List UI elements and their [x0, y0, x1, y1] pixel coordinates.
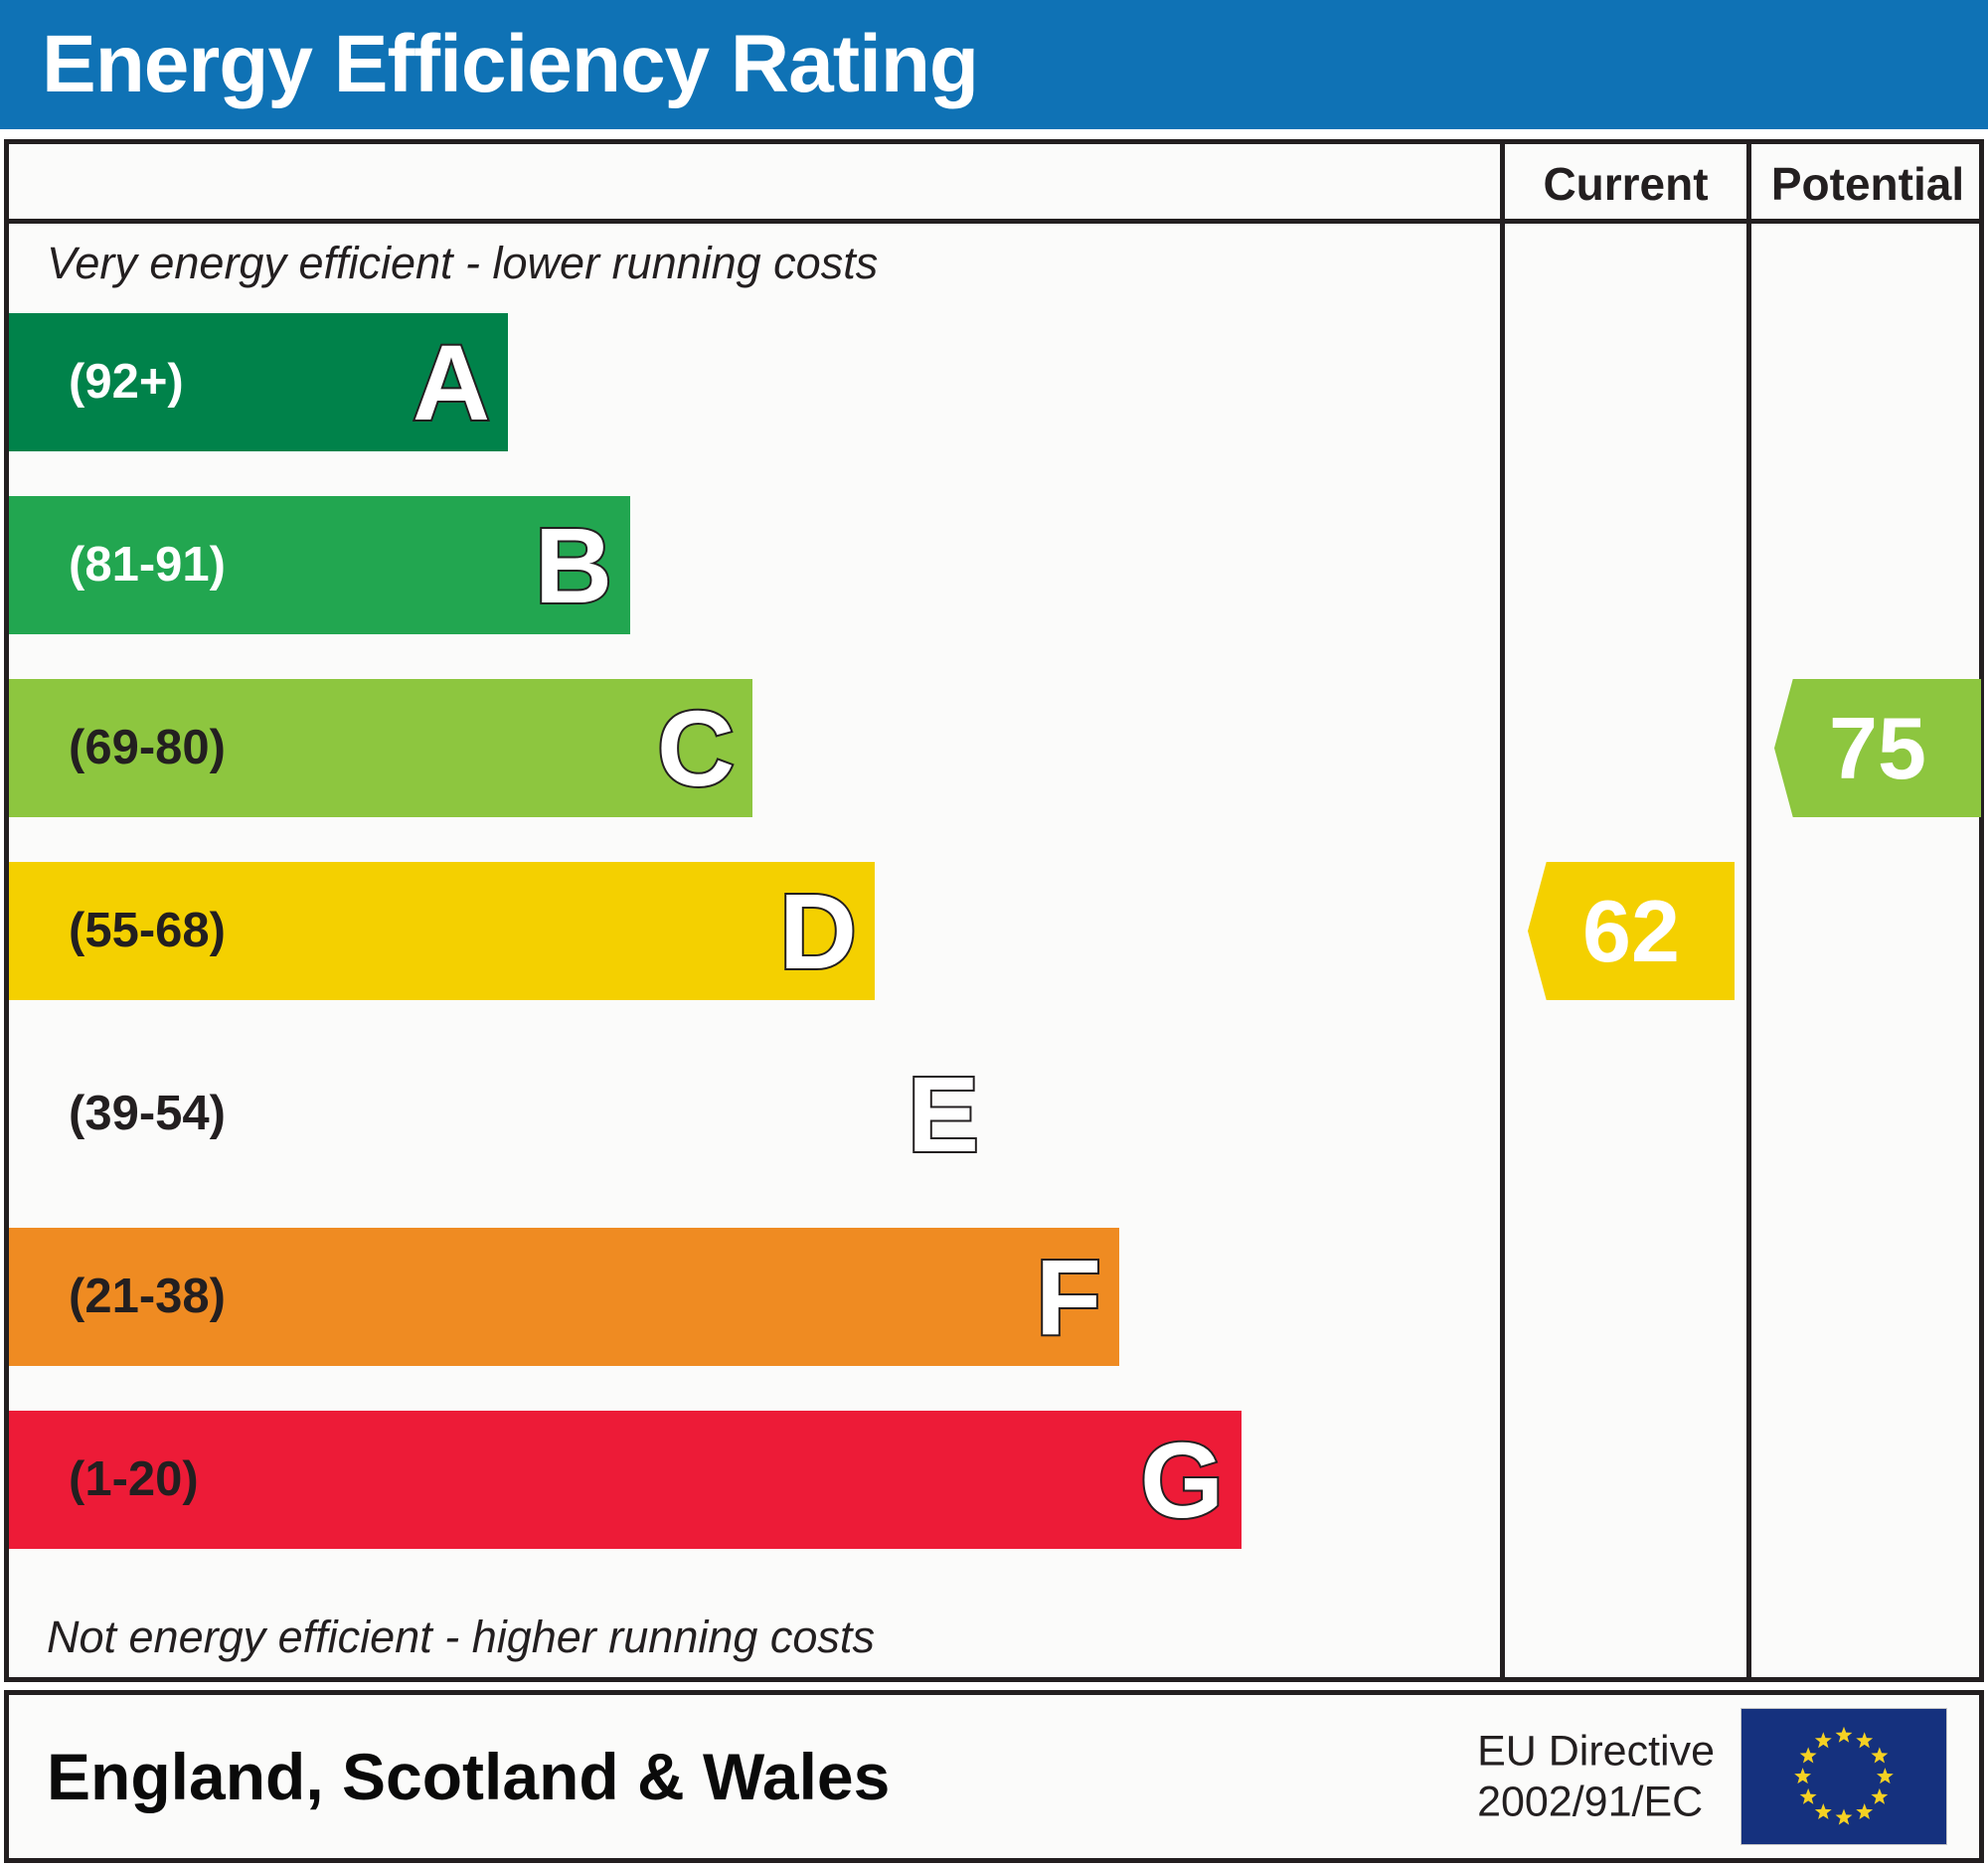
band-letter-b: B — [535, 512, 612, 619]
band-letter-d: D — [779, 878, 857, 985]
band-b: (81-91)B — [9, 496, 630, 634]
band-range-label: (1-20) — [9, 1455, 199, 1504]
band-f: (21-38)F — [9, 1228, 1119, 1366]
footer-directive-label: EU Directive 2002/91/EC — [1477, 1726, 1715, 1826]
current-rating-arrow: 62 — [1528, 862, 1735, 1000]
band-range-label: (81-91) — [9, 541, 226, 590]
band-range-label: (69-80) — [9, 724, 226, 772]
bands-area: Very energy efficient - lower running co… — [9, 224, 1500, 1677]
caption-efficient: Very energy efficient - lower running co… — [9, 224, 1500, 303]
band-range-label: (39-54) — [9, 1090, 226, 1138]
title-bar: Energy Efficiency Rating — [0, 0, 1988, 129]
epc-certificate: Energy Efficiency Rating Current Potenti… — [0, 0, 1988, 1867]
band-letter-e: E — [908, 1061, 979, 1168]
band-d: (55-68)D — [9, 862, 875, 1000]
potential-rating-arrow: 75 — [1774, 679, 1981, 817]
rating-table: Current Potential Very energy efficient … — [4, 139, 1984, 1682]
band-range-label: (21-38) — [9, 1273, 226, 1321]
band-range-label: (55-68) — [9, 907, 226, 955]
band-a: (92+)A — [9, 313, 508, 451]
footer: England, Scotland & Wales EU Directive 2… — [4, 1690, 1984, 1863]
directive-line-2: 2002/91/EC — [1477, 1777, 1715, 1827]
column-divider-left — [1500, 144, 1505, 1677]
band-letter-g: G — [1140, 1427, 1224, 1534]
eu-flag-icon — [1740, 1708, 1947, 1845]
band-e: (39-54)E — [9, 1045, 997, 1183]
page-title: Energy Efficiency Rating — [42, 24, 978, 105]
caption-inefficient: Not energy efficient - higher running co… — [9, 1598, 1500, 1677]
band-c: (69-80)C — [9, 679, 752, 817]
column-divider-right — [1746, 144, 1751, 1677]
footer-country-label: England, Scotland & Wales — [47, 1739, 890, 1814]
column-header-current: Current — [1505, 144, 1746, 224]
directive-line-1: EU Directive — [1477, 1726, 1715, 1777]
band-range-label: (92+) — [9, 358, 184, 407]
band-g: (1-20)G — [9, 1411, 1242, 1549]
band-letter-a: A — [413, 329, 490, 436]
column-header-potential: Potential — [1751, 144, 1984, 224]
band-letter-c: C — [657, 695, 735, 802]
band-letter-f: F — [1036, 1244, 1101, 1351]
